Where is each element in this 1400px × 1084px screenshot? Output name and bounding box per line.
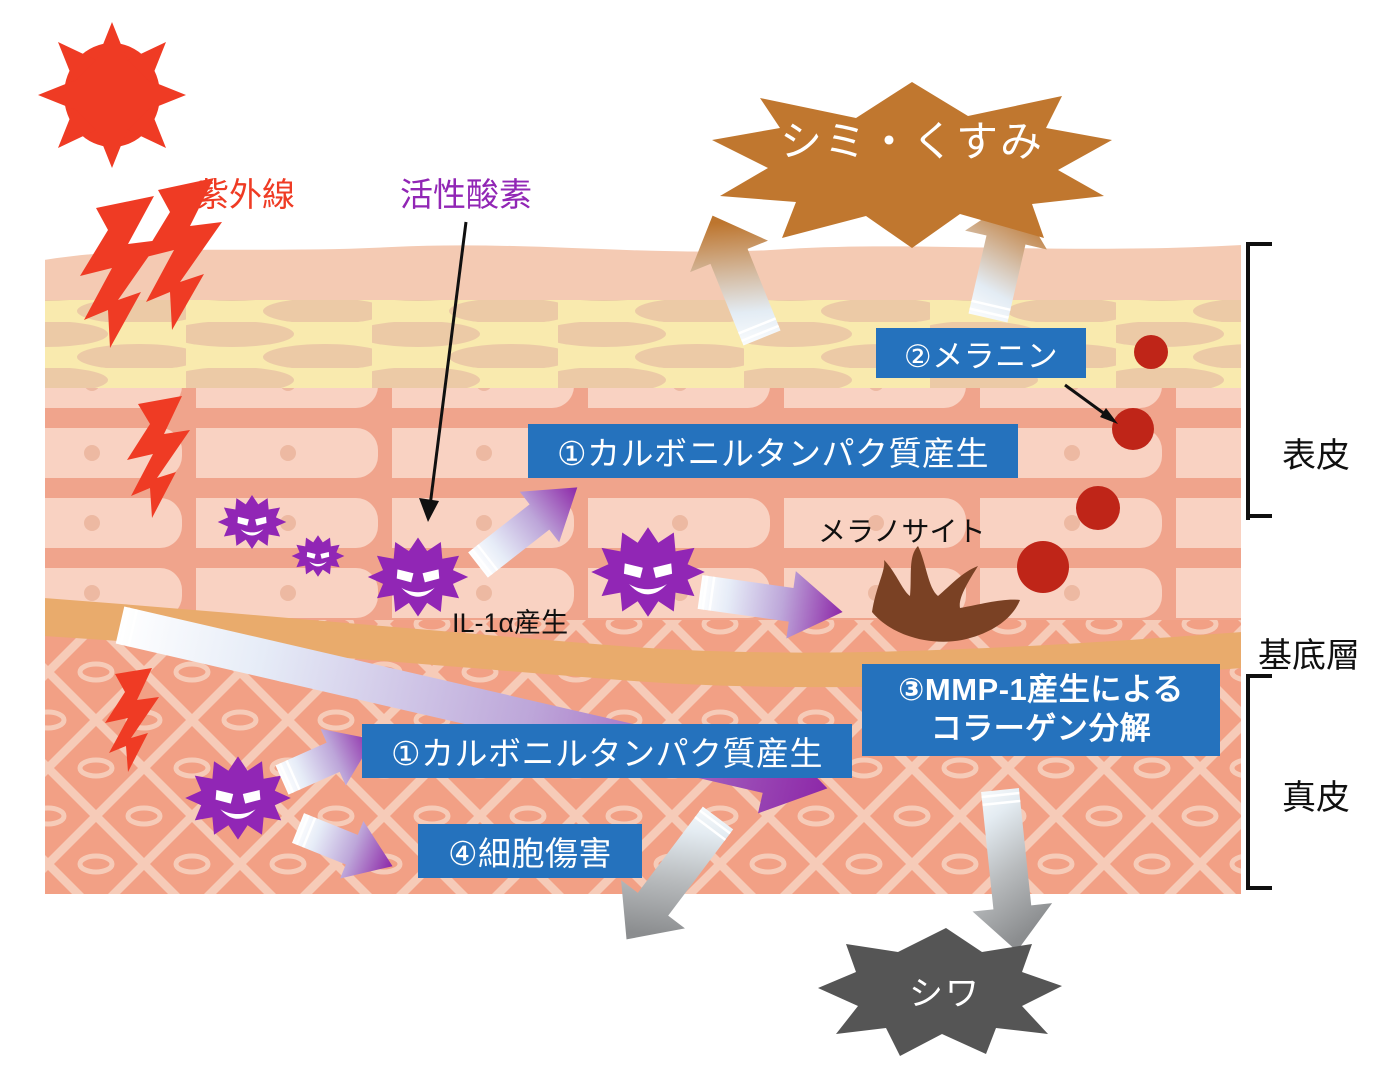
sun-icon: [38, 22, 186, 168]
callout-carbonyl-epidermis[interactable]: ①カルボニルタンパク質産生: [528, 424, 1018, 478]
callout-carbonyl-dermis[interactable]: ①カルボニルタンパク質産生: [362, 724, 852, 778]
basal-layer-label: 基底層: [1258, 628, 1360, 677]
callout-mmp1-collagen[interactable]: ③MMP-1産生による コラーゲン分解: [862, 664, 1220, 756]
stratum-corneum-layer: [44, 245, 1242, 302]
wrinkles-outcome-text: シワ: [845, 966, 1045, 1015]
callout-melanin[interactable]: ②メラニン: [876, 328, 1086, 378]
callout-mmp1-line2: コラーゲン分解: [931, 710, 1152, 749]
uv-label: 紫外線: [196, 176, 295, 214]
reactive-oxygen-label: 活性酸素: [400, 176, 532, 214]
il1a-production-label: IL-1α産生: [452, 608, 568, 639]
callout-mmp1-line1: ③MMP-1産生による: [898, 671, 1184, 710]
dermis-label: 真皮: [1282, 770, 1350, 819]
diagram-canvas: 紫外線 活性酸素 メラノサイト IL-1α産生 表皮 基底層 真皮 ①カルボニル…: [0, 0, 1400, 1084]
square-bracket-icon: [1248, 244, 1272, 888]
spots-outcome-text: シミ・くすみ: [712, 108, 1112, 169]
callout-cell-damage[interactable]: ④細胞傷害: [418, 824, 642, 878]
melanocyte-label: メラノサイト: [818, 516, 985, 548]
epidermis-label: 表皮: [1282, 428, 1350, 477]
skin-cross-section-illustration: [0, 0, 1400, 1084]
